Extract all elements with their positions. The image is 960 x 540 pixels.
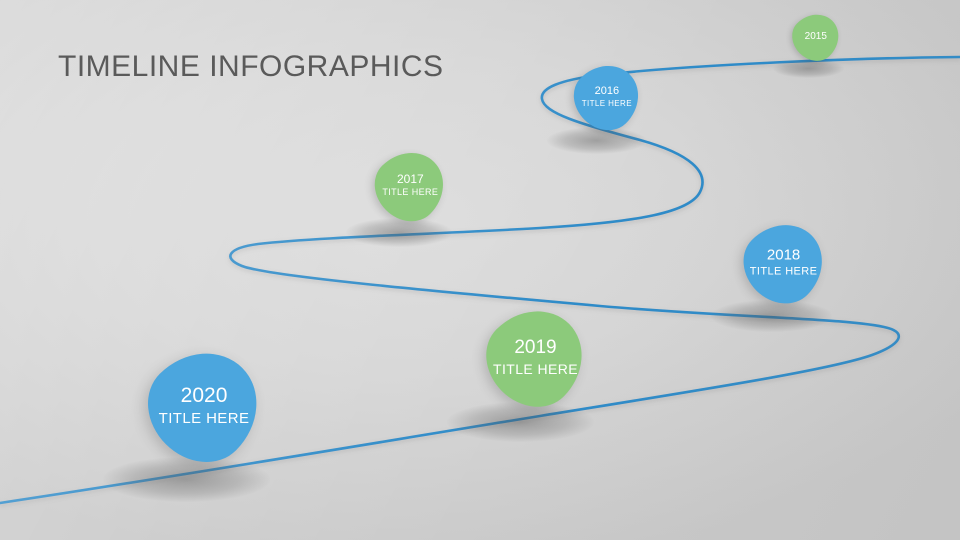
page-title: TIMELINE INFOGRAPHICS	[58, 50, 444, 84]
pin-year-2019: 2019	[514, 338, 556, 359]
pin-year-2015: 2015	[805, 32, 827, 43]
pin-text-2020: 2020TITLE HERE	[159, 385, 250, 428]
pin-text-2017: 2017TITLE HERE	[382, 173, 438, 198]
pin-label-2017: TITLE HERE	[382, 189, 438, 199]
pin-label-2016: TITLE HERE	[582, 100, 632, 109]
pin-label-2020: TITLE HERE	[159, 411, 250, 427]
pin-year-2018: 2018	[767, 248, 800, 264]
pin-label-2018: TITLE HERE	[750, 266, 818, 278]
pin-label-2019: TITLE HERE	[493, 362, 578, 377]
pin-text-2016: 2016TITLE HERE	[582, 86, 632, 109]
pin-year-2020: 2020	[181, 385, 228, 408]
pin-year-2016: 2016	[595, 86, 619, 98]
pin-text-2019: 2019TITLE HERE	[493, 338, 578, 377]
pin-year-2017: 2017	[397, 173, 424, 186]
pin-text-2018: 2018TITLE HERE	[750, 248, 818, 279]
slide-canvas: TIMELINE INFOGRAPHICS 20152016TITLE HERE…	[0, 0, 960, 540]
pin-text-2015: 2015	[805, 32, 827, 43]
